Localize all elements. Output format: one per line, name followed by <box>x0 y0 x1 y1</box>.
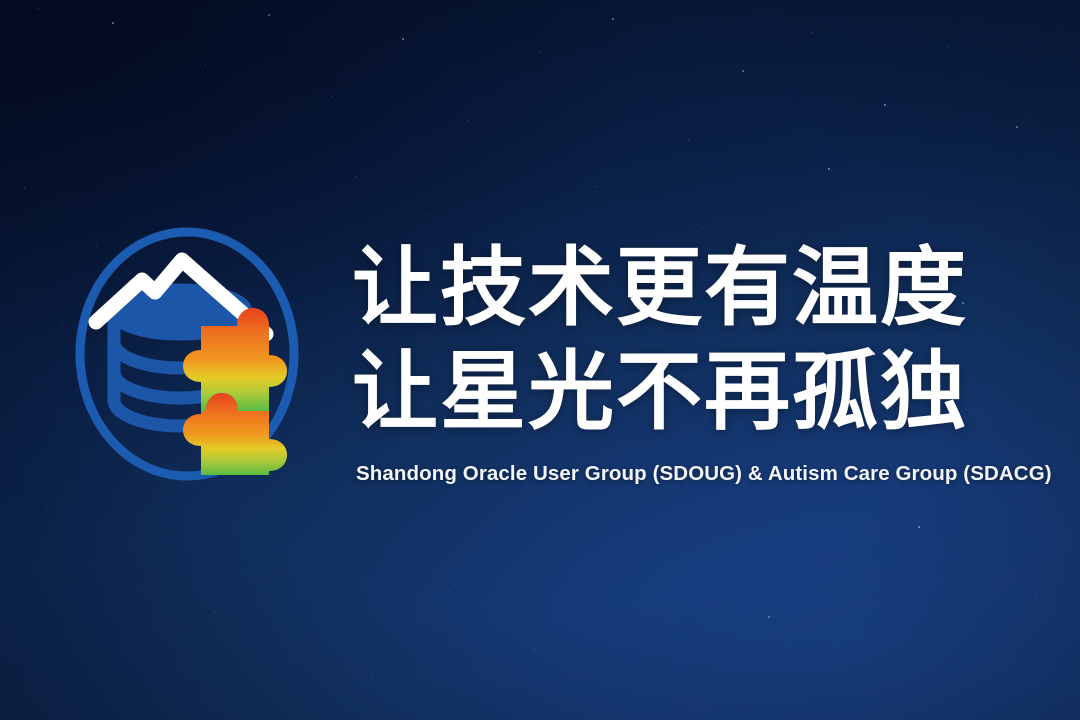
headline-line-2: 让星光不再孤独 <box>352 340 952 444</box>
logo <box>70 226 304 488</box>
text-block: 让技术更有温度 让星光不再孤独 Shandong Oracle User Gro… <box>352 236 952 486</box>
headline-line-1: 让技术更有温度 <box>352 236 952 340</box>
subtitle: Shandong Oracle User Group (SDOUG) & Aut… <box>356 462 952 486</box>
banner-canvas: 让技术更有温度 让星光不再孤独 Shandong Oracle User Gro… <box>0 0 1080 720</box>
